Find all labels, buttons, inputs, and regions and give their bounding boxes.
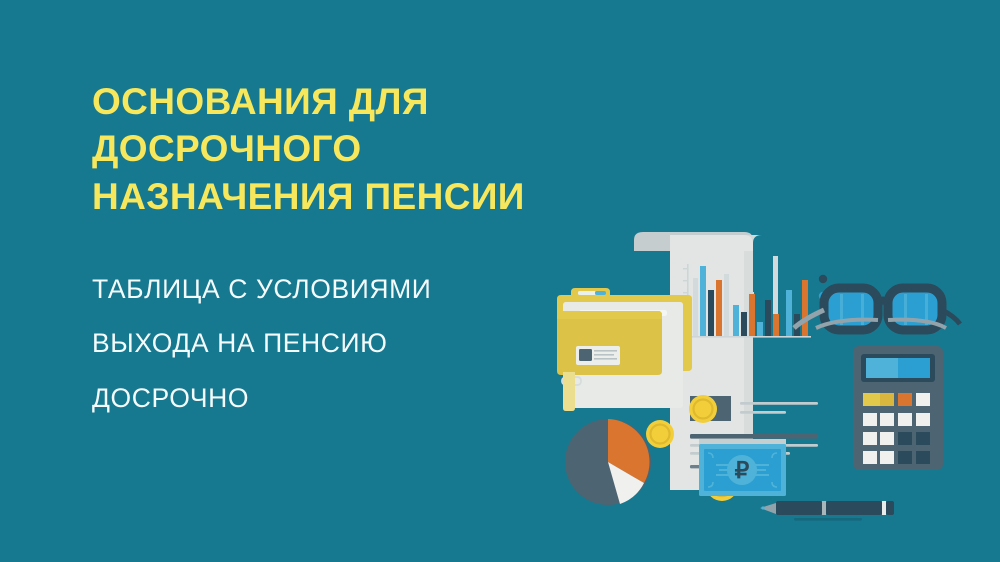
page-title: ОСНОВАНИЯ ДЛЯ ДОСРОЧНОГО НАЗНАЧЕНИЯ ПЕНС… [92,78,612,220]
ruble-banknote: ₽ [699,439,786,496]
bar-g1-s1 [700,266,706,336]
bar-g2-s1 [733,305,739,336]
folder-front [557,311,662,375]
chart-ghost-bar [724,274,729,336]
glasses-bridge [878,301,888,305]
ruble-symbol: ₽ [735,457,750,483]
calculator-screen-right [898,358,930,378]
calculator [853,346,943,470]
bar-g3-s1 [757,322,763,336]
folder-card-lines [594,350,617,360]
calculator-key[interactable] [898,432,912,445]
folder-front-top [557,311,662,319]
bar-g3-s3 [773,314,779,336]
calculator-key[interactable] [898,413,912,426]
calculator-key[interactable] [916,432,930,445]
pen-barrel-front [776,501,822,515]
eyeglasses [794,288,960,330]
bar-g4-s3 [802,280,808,336]
calculator-key[interactable] [880,451,894,464]
illustration-svg: ₽ [548,222,1000,534]
pen-cap-end [886,501,894,515]
folder-card-thumb [579,349,592,361]
yellow-folder [557,288,692,411]
bar-g1-s3 [716,280,722,336]
bar-g4-s1 [786,290,792,336]
calculator-key[interactable] [863,432,877,445]
document-bar-chart [683,256,827,338]
legend-dot-navy [819,275,827,283]
document-divider [690,434,818,439]
pen-ring [822,501,826,515]
chart-baseline [687,336,811,338]
gold-coin-mid [646,420,674,448]
calculator-key[interactable] [863,451,877,464]
calculator-key[interactable] [880,432,894,445]
pen [760,501,894,521]
gold-coin-on-photo [689,395,717,423]
calculator-key[interactable] [916,413,930,426]
bar-g2-s3 [749,294,755,336]
calculator-key-yellow[interactable] [880,393,894,406]
chart-ghost-bar [693,278,698,336]
calculator-key-white[interactable] [916,393,930,406]
text-block: ОСНОВАНИЯ ДЛЯ ДОСРОЧНОГО НАЗНАЧЕНИЯ ПЕНС… [92,78,612,425]
bar-g2-s2 [741,312,747,336]
pie-chart [565,419,651,505]
folder-tab-marker [595,291,606,295]
financial-report-illustration: ₽ [548,222,1000,534]
bar-g3-s2 [765,300,771,336]
calculator-key[interactable] [880,413,894,426]
calculator-key[interactable] [898,451,912,464]
folder-edge-light [563,372,575,411]
pen-barrel-back [826,501,882,515]
bar-g1-s2 [708,290,714,336]
calculator-key[interactable] [916,451,930,464]
calculator-screen-left [866,358,898,378]
pen-cap-ring [882,501,886,515]
calculator-key-orange[interactable] [898,393,912,406]
slide-canvas: ОСНОВАНИЯ ДЛЯ ДОСРОЧНОГО НАЗНАЧЕНИЯ ПЕНС… [0,0,1000,562]
pen-shadow [794,518,862,521]
calculator-key[interactable] [863,413,877,426]
page-subtitle: ТАБЛИЦА С УСЛОВИЯМИ ВЫХОДА НА ПЕНСИЮ ДОС… [92,262,612,425]
pen-nib-tip [761,506,764,509]
